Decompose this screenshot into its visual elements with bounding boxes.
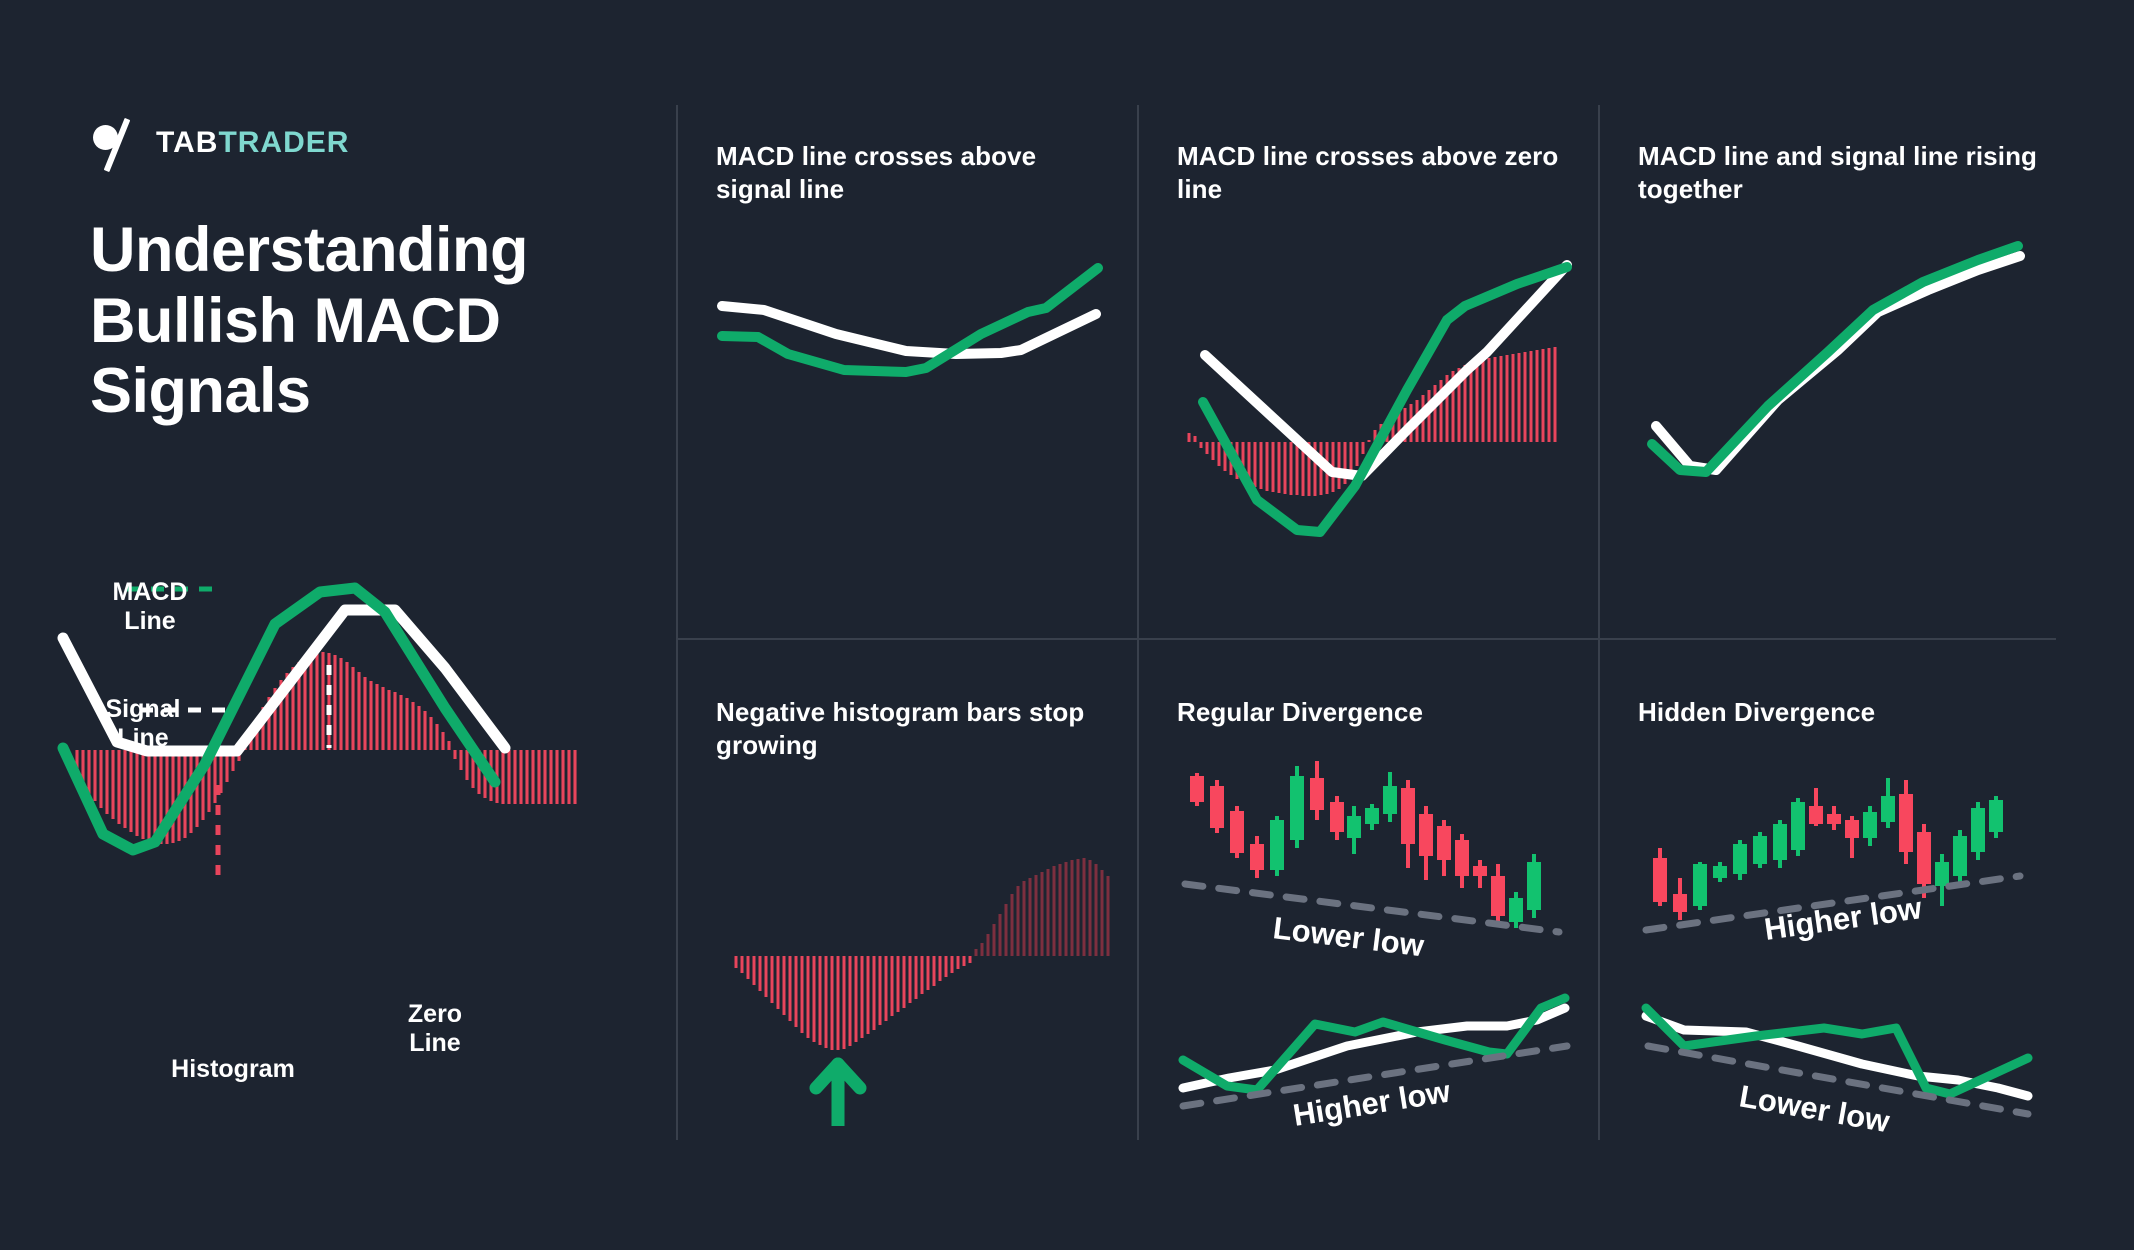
candle [1899, 780, 1913, 864]
panel-chart [1177, 210, 1577, 560]
candle [1809, 788, 1823, 826]
divider-horizontal-mid [676, 638, 2056, 640]
panel-macd-and-signal-rising: MACD line and signal line rising togethe… [1638, 140, 2038, 620]
macd-line [1646, 1008, 2028, 1094]
candle [1383, 772, 1397, 822]
candle [1989, 796, 2003, 838]
candlestick-series [1653, 778, 2003, 920]
annotation-lower-low: Lower low [1737, 1078, 1893, 1138]
candle [1733, 840, 1747, 880]
candle [1673, 878, 1687, 920]
panel-hidden-divergence: Hidden Divergence [1638, 696, 2038, 1146]
panel-chart [716, 796, 1116, 1126]
candle [1250, 836, 1264, 878]
panel-macd-crosses-above-signal: MACD line crosses above signal line [716, 140, 1116, 620]
candle [1419, 806, 1433, 880]
divider-vertical-mid2 [1598, 105, 1600, 1140]
panel-histogram-positive [976, 858, 1108, 956]
candle [1230, 806, 1244, 858]
infographic-root: TABTRADER Understanding Bullish MACD Sig… [0, 0, 2134, 1250]
signal-line [1656, 256, 2020, 470]
candle [1881, 778, 1895, 828]
panel-chart: Higher low Lower low [1638, 758, 2038, 1138]
candle [1270, 816, 1284, 876]
candle [1713, 862, 1727, 882]
candle [1791, 798, 1805, 856]
left-column: TABTRADER Understanding Bullish MACD Sig… [0, 0, 676, 1250]
candlestick-series [1190, 761, 1541, 928]
panel-chart [1638, 230, 2038, 530]
panel-title: MACD line and signal line rising togethe… [1638, 140, 2038, 207]
panel-title: Negative histogram bars stop growing [716, 696, 1116, 763]
tabtrader-logo: TABTRADER [90, 115, 349, 171]
legend-zero-line-label: Zero Line [380, 1000, 490, 1058]
legend-macd-line-label: MACD Line [95, 578, 205, 636]
candle [1210, 780, 1224, 833]
candle [1290, 766, 1304, 848]
candle [1347, 806, 1361, 854]
candle [1330, 796, 1344, 840]
panel-negative-histogram-stops: Negative histogram bars stop growing [716, 696, 1116, 1146]
candle [1971, 802, 1985, 860]
candle [1773, 820, 1787, 868]
panel-title: MACD line crosses above signal line [716, 140, 1116, 207]
candle [1953, 830, 1967, 886]
divider-vertical-left [676, 105, 678, 1140]
candle [1509, 892, 1523, 928]
candle [1753, 832, 1767, 868]
logo-word-tab: TAB [156, 126, 218, 159]
candle [1845, 816, 1859, 858]
annotation-higher-low: Higher low [1762, 890, 1925, 947]
panel-macd-crosses-above-zero: MACD line crosses above zero line [1177, 140, 1577, 620]
candle [1401, 780, 1415, 868]
legend-histogram-label: Histogram [148, 1055, 318, 1084]
panel-chart: Lower low Higher low [1177, 758, 1577, 1138]
page-title: Understanding Bullish MACD Signals [90, 215, 630, 427]
logo-wordmark: TABTRADER [156, 128, 349, 158]
candle [1935, 854, 1949, 906]
panel-histogram-negative [736, 956, 970, 1050]
legend-signal-line-label: Signal Line [83, 695, 203, 753]
panel-title: MACD line crosses above zero line [1177, 140, 1577, 207]
tabtrader-logo-icon [90, 115, 154, 171]
candle [1437, 820, 1451, 876]
logo-word-trader: TRADER [218, 126, 349, 159]
up-arrow-icon [816, 1064, 860, 1126]
panel-title: Hidden Divergence [1638, 696, 2038, 729]
candle [1693, 862, 1707, 910]
annotation-lower-low: Lower low [1271, 910, 1427, 963]
divider-vertical-mid1 [1137, 105, 1139, 1140]
candle [1491, 864, 1505, 924]
annotation-higher-low: Higher low [1291, 1073, 1454, 1132]
candle [1653, 848, 1667, 906]
candle [1310, 761, 1324, 820]
candle [1827, 806, 1841, 830]
panel-chart [716, 250, 1116, 510]
panel-title: Regular Divergence [1177, 696, 1577, 729]
candle [1365, 804, 1379, 830]
panel-regular-divergence: Regular Divergence [1177, 696, 1577, 1146]
candle [1473, 860, 1487, 888]
candle [1527, 854, 1541, 918]
candle [1863, 806, 1877, 846]
candle [1455, 834, 1469, 888]
candle [1190, 773, 1204, 806]
